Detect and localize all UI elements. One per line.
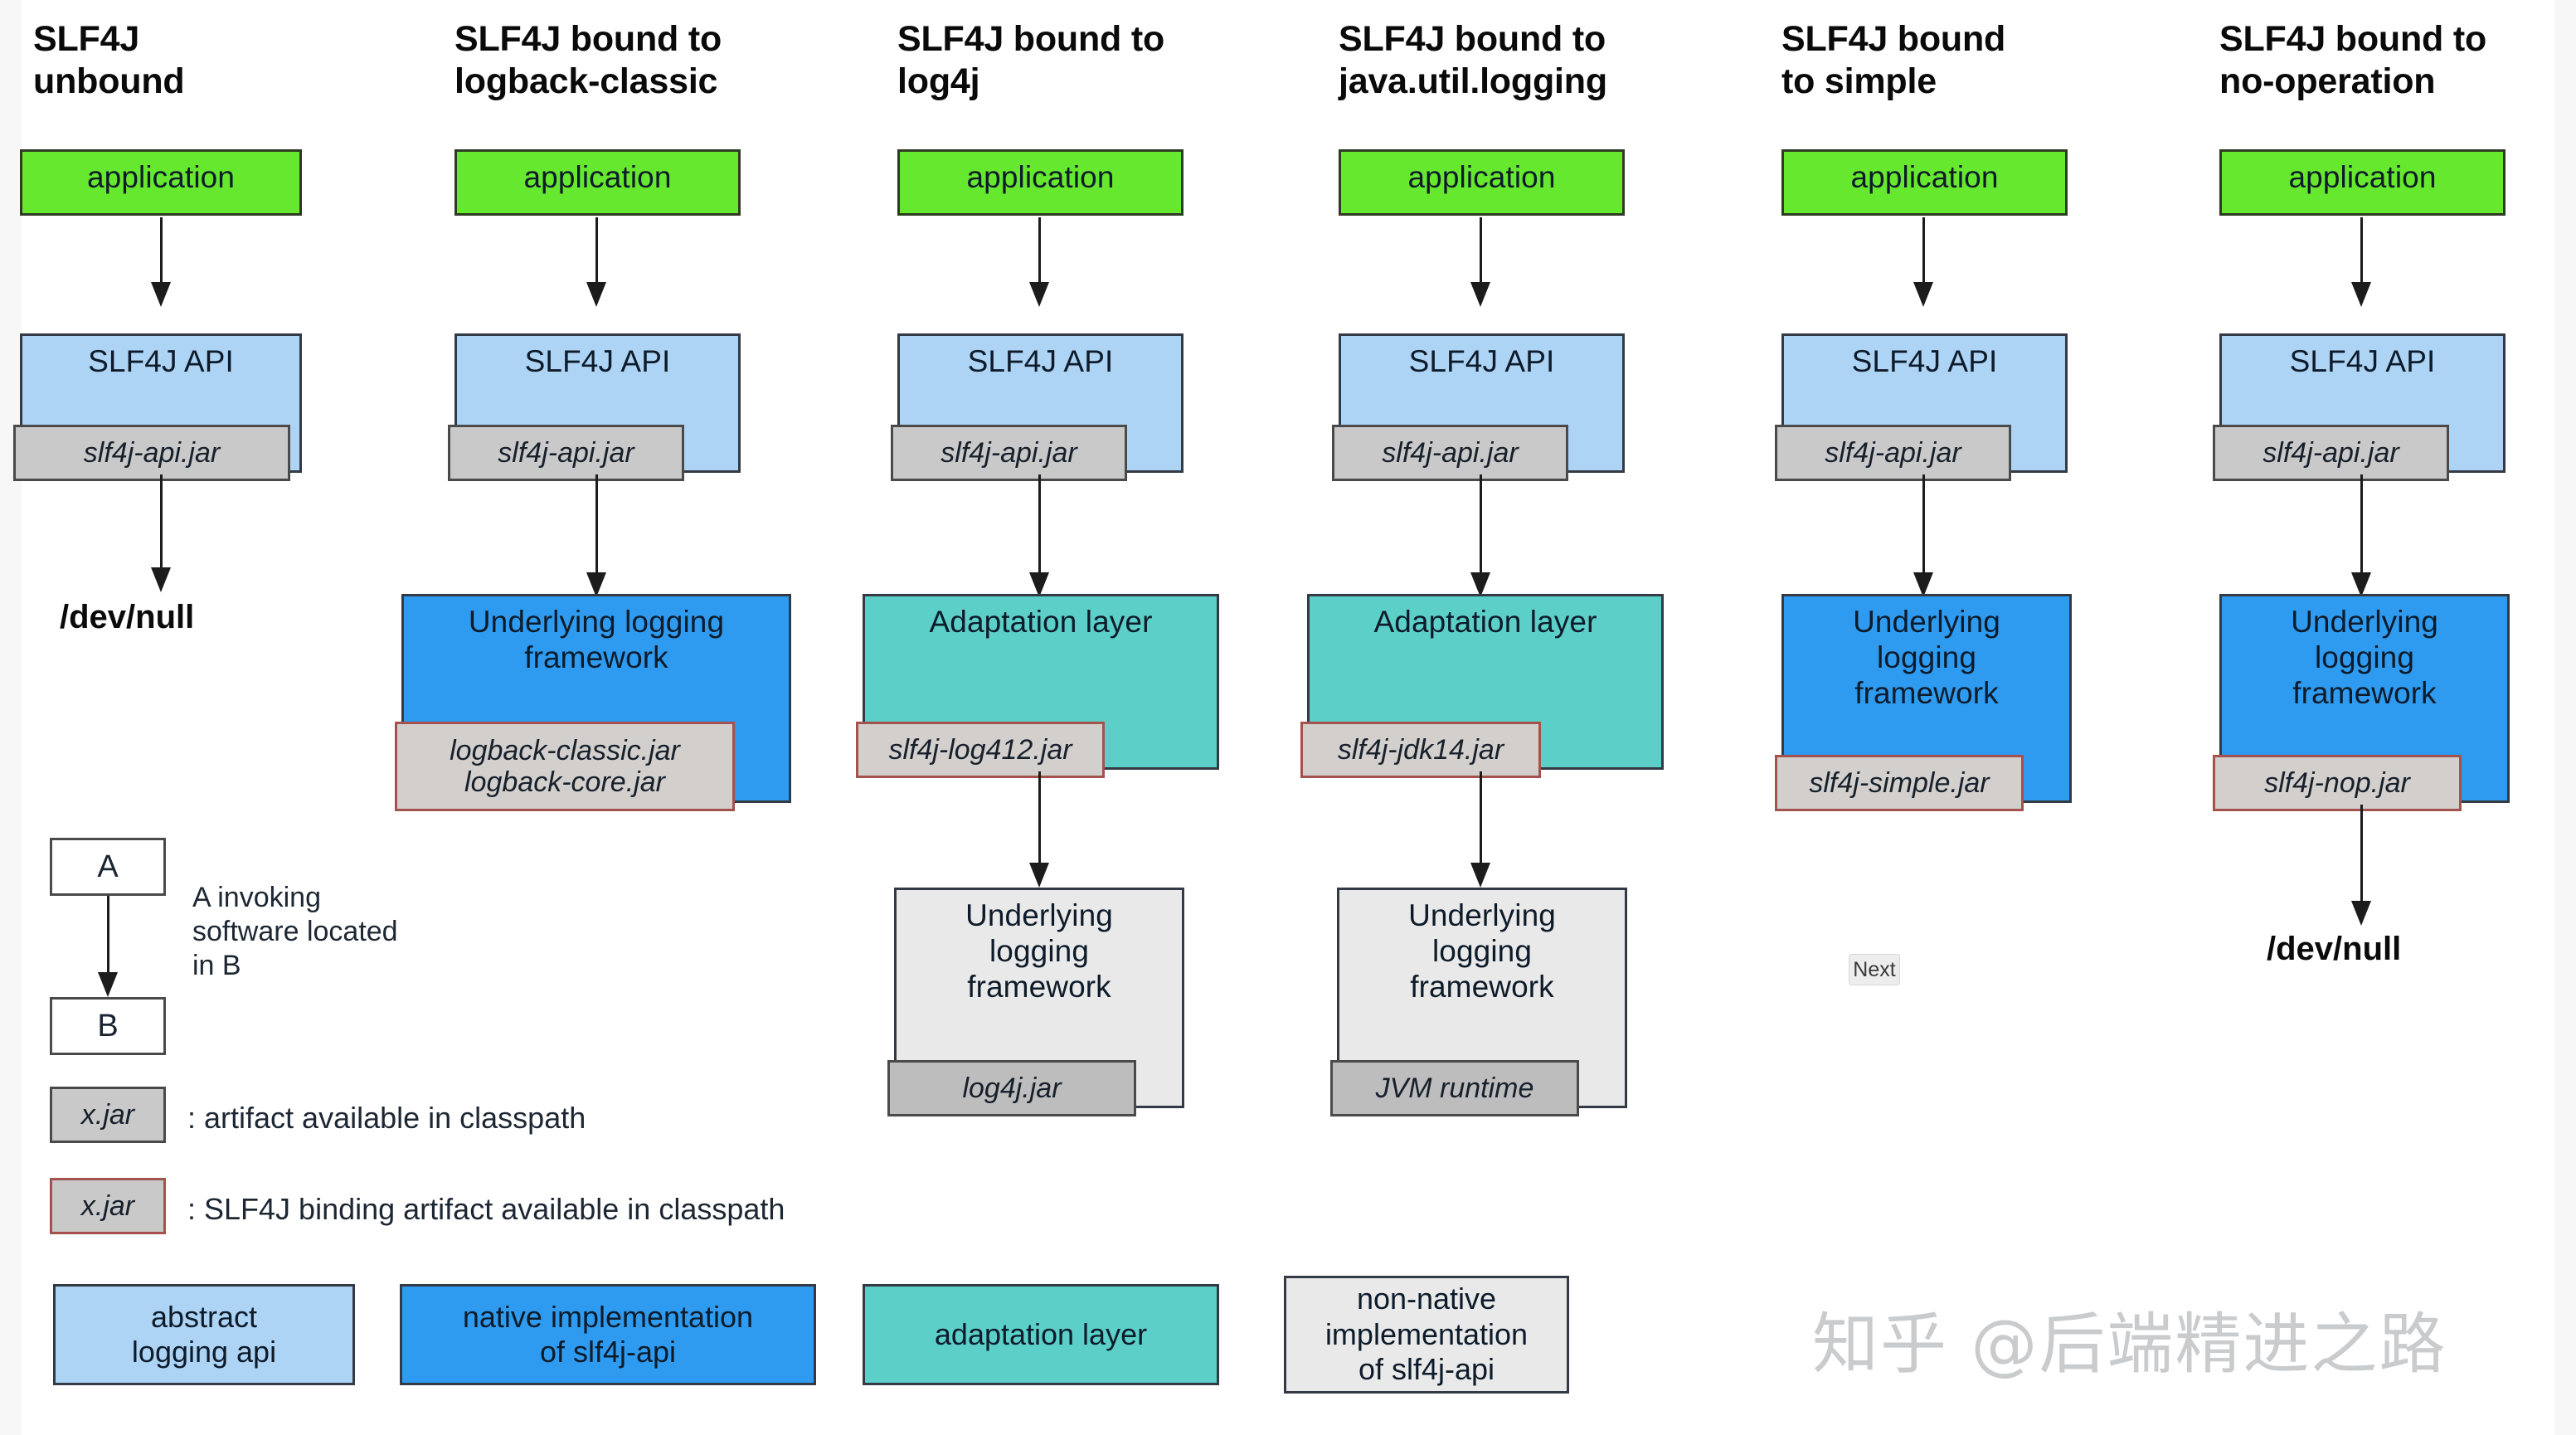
column-header-unbound-line1: SLF4J <box>33 18 184 61</box>
jar-logback-classic-label: logback-classic.jar <box>450 735 680 766</box>
next-button[interactable]: Next <box>1849 954 1900 985</box>
jar-slf4j-api-nop: slf4j-api.jar <box>2213 425 2449 481</box>
column-header-logback-line1: SLF4J bound to <box>454 18 722 61</box>
devnull-nop: /dev/null <box>2267 931 2401 968</box>
node-application-simple[interactable]: application <box>1781 149 2068 216</box>
node-adaptation-layer-jul[interactable]: Adaptation layer slf4j-jdk14.jar <box>1307 594 1664 770</box>
node-application-logback-label: application <box>457 152 738 196</box>
legend-swatch-nonnative-line1: non-native <box>1357 1282 1496 1316</box>
legend-binding-artifact-caption: : SLF4J binding artifact available in cl… <box>187 1192 785 1227</box>
node-slf4j-api-simple-label: SLF4J API <box>1784 336 2065 380</box>
legend-swatch-nonnative-line2: implementation <box>1325 1317 1528 1352</box>
legend-invoke-caption-line1: A invoking <box>192 881 398 915</box>
legend-box-b: B <box>50 997 166 1055</box>
column-header-nop-line1: SLF4J bound to <box>2219 18 2486 61</box>
jar-slf4j-api-unbound-label: slf4j-api.jar <box>84 437 220 469</box>
node-application-jul-label: application <box>1341 152 1622 196</box>
jar-log4j-label: log4j.jar <box>962 1073 1061 1104</box>
node-application-unbound-label: application <box>22 152 299 196</box>
node-slf4j-api-logback-label: SLF4J API <box>457 336 738 380</box>
column-header-simple-line1: SLF4J bound <box>1781 18 2005 61</box>
jar-jvm-runtime: JVM runtime <box>1330 1060 1579 1116</box>
node-application-logback[interactable]: application <box>454 149 741 216</box>
jar-slf4j-api-nop-label: slf4j-api.jar <box>2263 437 2399 469</box>
node-application-unbound[interactable]: application <box>20 149 302 216</box>
legend-chip-artifact-label: x.jar <box>81 1099 134 1131</box>
column-header-simple: SLF4J bound to simple <box>1781 18 2005 102</box>
watermark: 知乎 @后端精进之路 <box>1812 1291 2447 1387</box>
jar-slf4j-api-log4j-label: slf4j-api.jar <box>940 437 1077 469</box>
node-underlying-framework-nop-label: Underlying logging framework <box>2222 596 2507 712</box>
node-slf4j-api-unbound[interactable]: SLF4J API slf4j-api.jar <box>20 333 302 473</box>
node-underlying-framework-logback[interactable]: Underlying logging framework logback-cla… <box>401 594 791 803</box>
jar-slf4j-api-log4j: slf4j-api.jar <box>891 425 1127 481</box>
jar-slf4j-api-simple: slf4j-api.jar <box>1775 425 2011 481</box>
legend-chip-artifact: x.jar <box>50 1087 166 1143</box>
jar-slf4j-jdk14-label: slf4j-jdk14.jar <box>1338 734 1504 766</box>
legend-chip-binding-artifact-label: x.jar <box>81 1190 134 1223</box>
jar-slf4j-api-logback: slf4j-api.jar <box>448 425 684 481</box>
node-application-jul[interactable]: application <box>1339 149 1625 216</box>
underlying-3l-2-simple: logging <box>1877 640 1976 674</box>
node-slf4j-api-nop-label: SLF4J API <box>2222 336 2503 380</box>
legend-swatch-abstract-line2: logging api <box>132 1335 276 1369</box>
column-header-jul-line2: java.util.logging <box>1339 61 1607 103</box>
underlying-3l-3-jul: framework <box>1410 970 1554 1004</box>
legend-swatch-abstract-logging-api: abstract logging api <box>53 1284 355 1385</box>
underlying-3l-3: framework <box>967 970 1111 1004</box>
legend-box-b-label: B <box>97 1009 118 1044</box>
node-slf4j-api-logback[interactable]: SLF4J API slf4j-api.jar <box>454 333 741 473</box>
column-header-nop: SLF4J bound to no-operation <box>2219 18 2486 102</box>
node-slf4j-api-jul-label: SLF4J API <box>1341 336 1622 380</box>
node-slf4j-api-log4j[interactable]: SLF4J API slf4j-api.jar <box>897 333 1184 473</box>
right-gutter <box>2554 0 2576 1435</box>
jar-logback-logback: logback-classic.jar logback-core.jar <box>395 722 735 811</box>
underlying-3l-1: Underlying <box>965 898 1113 932</box>
node-application-nop[interactable]: application <box>2219 149 2506 216</box>
legend-swatch-abstract-line1: abstract <box>151 1300 257 1335</box>
node-slf4j-api-log4j-label: SLF4J API <box>900 336 1181 380</box>
underlying-3l-3-simple: framework <box>1854 676 1999 710</box>
underlying-3l-3-nop: framework <box>2292 676 2437 710</box>
column-header-log4j-line2: log4j <box>897 61 1164 103</box>
next-button-label: Next <box>1853 958 1895 982</box>
node-slf4j-api-nop[interactable]: SLF4J API slf4j-api.jar <box>2219 333 2506 473</box>
node-slf4j-api-jul[interactable]: SLF4J API slf4j-api.jar <box>1339 333 1625 473</box>
underlying-line1: Underlying logging <box>469 605 724 639</box>
underlying-3l-1-simple: Underlying <box>1853 605 2000 639</box>
node-underlying-framework-simple[interactable]: Underlying logging framework slf4j-simpl… <box>1781 594 2072 803</box>
node-slf4j-api-simple[interactable]: SLF4J API slf4j-api.jar <box>1781 333 2068 473</box>
legend-swatch-native-line2: of slf4j-api <box>540 1335 676 1369</box>
column-header-logback: SLF4J bound to logback-classic <box>454 18 722 102</box>
underlying-3l-2: logging <box>989 934 1089 968</box>
legend-swatch-adaptation-line1: adaptation layer <box>935 1317 1147 1352</box>
jar-slf4j-log412-label: slf4j-log412.jar <box>888 734 1072 766</box>
node-underlying-framework-simple-label: Underlying logging framework <box>1784 596 2069 712</box>
jar-slf4j-simple-label: slf4j-simple.jar <box>1809 767 1989 799</box>
node-underlying-framework-jul-label: Underlying logging framework <box>1339 890 1625 1005</box>
legend-swatch-non-native-implementation: non-native implementation of slf4j-api <box>1284 1276 1569 1394</box>
node-application-simple-label: application <box>1784 152 2065 196</box>
legend-artifact-caption: : artifact available in classpath <box>187 1101 586 1136</box>
node-adaptation-layer-log4j[interactable]: Adaptation layer slf4j-log412.jar <box>863 594 1219 770</box>
column-header-log4j: SLF4J bound to log4j <box>897 18 1164 102</box>
column-header-simple-line2: to simple <box>1781 61 2005 103</box>
legend-swatch-native-implementation: native implementation of slf4j-api <box>400 1284 816 1385</box>
jar-slf4j-api-unbound: slf4j-api.jar <box>13 425 290 481</box>
underlying-3l-2-nop: logging <box>2315 640 2414 674</box>
jar-slf4j-nop-label: slf4j-nop.jar <box>2264 767 2410 799</box>
column-header-logback-line2: logback-classic <box>454 61 722 103</box>
column-header-jul: SLF4J bound to java.util.logging <box>1339 18 1607 102</box>
legend-swatch-adaptation-layer: adaptation layer <box>863 1284 1219 1385</box>
jar-slf4j-api-jul-label: slf4j-api.jar <box>1382 437 1518 469</box>
legend-invoke-caption: A invoking software located in B <box>192 881 398 982</box>
jar-jvm-runtime-label: JVM runtime <box>1376 1073 1534 1104</box>
jar-slf4j-api-jul: slf4j-api.jar <box>1332 425 1568 481</box>
node-application-log4j-label: application <box>900 152 1181 196</box>
legend-swatch-nonnative-line3: of slf4j-api <box>1358 1352 1495 1387</box>
node-underlying-framework-log4j[interactable]: Underlying logging framework log4j.jar <box>894 888 1184 1108</box>
node-slf4j-api-unbound-label: SLF4J API <box>22 336 299 380</box>
underlying-line2: framework <box>524 640 668 674</box>
underlying-3l-2-jul: logging <box>1432 934 1532 968</box>
legend-box-a: A <box>50 838 166 896</box>
column-header-unbound: SLF4J unbound <box>33 18 184 102</box>
node-underlying-framework-log4j-label: Underlying logging framework <box>897 890 1182 1005</box>
legend-swatch-native-line1: native implementation <box>463 1300 753 1335</box>
legend-chip-binding-artifact: x.jar <box>50 1178 166 1234</box>
node-adaptation-layer-jul-label: Adaptation layer <box>1310 596 1661 640</box>
legend-invoke-caption-line2: software located <box>192 915 398 949</box>
diagram-canvas: SLF4J unbound application SLF4J API slf4… <box>0 0 2576 1435</box>
legend-box-a-label: A <box>97 849 118 885</box>
underlying-3l-1-jul: Underlying <box>1408 898 1556 932</box>
jar-slf4j-simple: slf4j-simple.jar <box>1775 755 2024 811</box>
node-application-log4j[interactable]: application <box>897 149 1184 216</box>
node-application-nop-label: application <box>2222 152 2503 196</box>
node-underlying-framework-nop[interactable]: Underlying logging framework slf4j-nop.j… <box>2219 594 2510 803</box>
devnull-unbound: /dev/null <box>60 599 194 636</box>
jar-log4j: log4j.jar <box>887 1060 1136 1116</box>
column-header-jul-line1: SLF4J bound to <box>1339 18 1607 61</box>
jar-slf4j-nop: slf4j-nop.jar <box>2213 755 2462 811</box>
left-gutter <box>0 0 22 1435</box>
column-header-nop-line2: no-operation <box>2219 61 2486 103</box>
jar-slf4j-jdk14: slf4j-jdk14.jar <box>1300 722 1541 778</box>
jar-logback-core-label: logback-core.jar <box>464 766 665 798</box>
node-underlying-framework-jul[interactable]: Underlying logging framework JVM runtime <box>1337 888 1627 1108</box>
column-header-log4j-line1: SLF4J bound to <box>897 18 1164 61</box>
jar-slf4j-api-logback-label: slf4j-api.jar <box>498 437 634 469</box>
legend-invoke-caption-line3: in B <box>192 949 398 983</box>
underlying-3l-1-nop: Underlying <box>2291 605 2438 639</box>
column-header-unbound-line2: unbound <box>33 61 184 103</box>
jar-slf4j-api-simple-label: slf4j-api.jar <box>1825 437 1961 469</box>
node-adaptation-layer-log4j-label: Adaptation layer <box>865 596 1217 640</box>
jar-slf4j-log412: slf4j-log412.jar <box>856 722 1105 778</box>
node-underlying-framework-logback-label: Underlying logging framework <box>404 596 789 676</box>
